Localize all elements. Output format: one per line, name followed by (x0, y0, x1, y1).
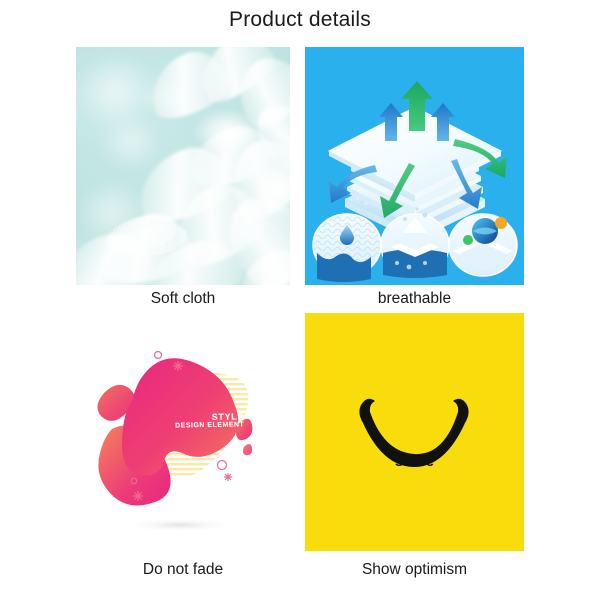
feature-caption-do-not-fade: Do not fade (76, 561, 290, 579)
blob-scene: STYLE DESIGN ELEMENT (76, 313, 290, 551)
smile-graphic[interactable]: smile (305, 313, 524, 551)
feature-caption-soft-cloth: Soft cloth (76, 290, 290, 308)
feature-caption-show-optimism: Show optimism (305, 561, 524, 579)
blob-overlay-line2: DESIGN ELEMENT (175, 421, 244, 430)
feature-cell-soft-cloth[interactable]: Soft cloth (76, 47, 290, 312)
smile-overlay-word: smile (305, 453, 524, 470)
breathable-scene (305, 47, 524, 285)
product-details-page: Product details (0, 0, 600, 600)
blob-dot-right (243, 444, 252, 455)
blob-shadow (124, 518, 236, 532)
smile-scene: smile (305, 313, 524, 551)
feature-caption-breathable: breathable (305, 290, 524, 308)
feature-cell-do-not-fade[interactable]: STYLE DESIGN ELEMENT Do not fade (76, 313, 290, 583)
feature-cell-breathable[interactable]: breathable (305, 47, 524, 312)
feature-cell-show-optimism[interactable]: smile Show optimism (305, 313, 524, 583)
fluid-gradient-blob-graphic[interactable]: STYLE DESIGN ELEMENT (76, 313, 290, 551)
feather-texture-photo[interactable] (76, 47, 290, 285)
feather-scene (76, 47, 290, 285)
detail-circle-water-droplet (313, 214, 381, 282)
blob-overlay-text: STYLE DESIGN ELEMENT (175, 411, 245, 430)
detail-circle-3d-molecule (449, 214, 517, 276)
breathable-layers-diagram[interactable] (305, 47, 524, 285)
page-title: Product details (0, 8, 600, 32)
